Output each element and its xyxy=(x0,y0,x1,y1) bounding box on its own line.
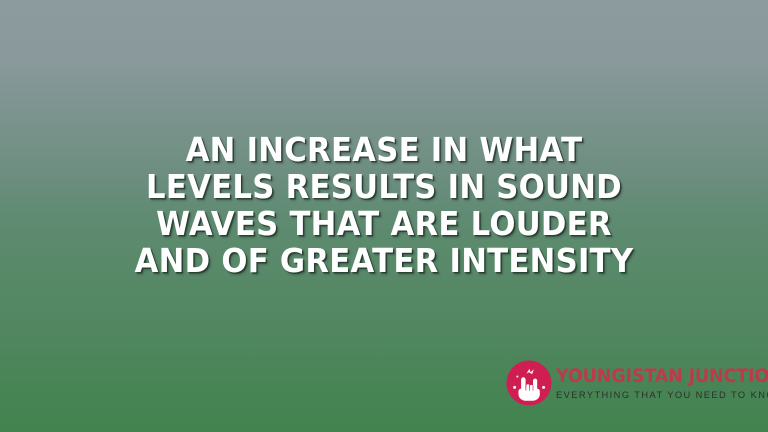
brand-tagline: EVERYTHING THAT YOU NEED TO KNOW xyxy=(556,390,768,401)
headline-line-1: AN INCREASE IN WHAT xyxy=(51,131,717,168)
quote-card: AN INCREASE IN WHAT LEVELS RESULTS IN SO… xyxy=(0,0,768,432)
rock-on-hand-in-circle-icon xyxy=(506,360,552,406)
brand-name: YOUNGISTAN JUNCTION xyxy=(556,367,768,387)
brand-logo-lockup[interactable]: YOUNGISTAN JUNCTION EVERYTHING THAT YOU … xyxy=(506,358,758,408)
headline-line-4: AND OF GREATER INTENSITY xyxy=(51,242,717,279)
brand-wordmark: YOUNGISTAN JUNCTION EVERYTHING THAT YOU … xyxy=(556,365,768,401)
page-title: AN INCREASE IN WHAT LEVELS RESULTS IN SO… xyxy=(0,131,768,279)
headline-line-3: WAVES THAT ARE LOUDER xyxy=(51,205,717,242)
headline-line-2: LEVELS RESULTS IN SOUND xyxy=(51,168,717,205)
